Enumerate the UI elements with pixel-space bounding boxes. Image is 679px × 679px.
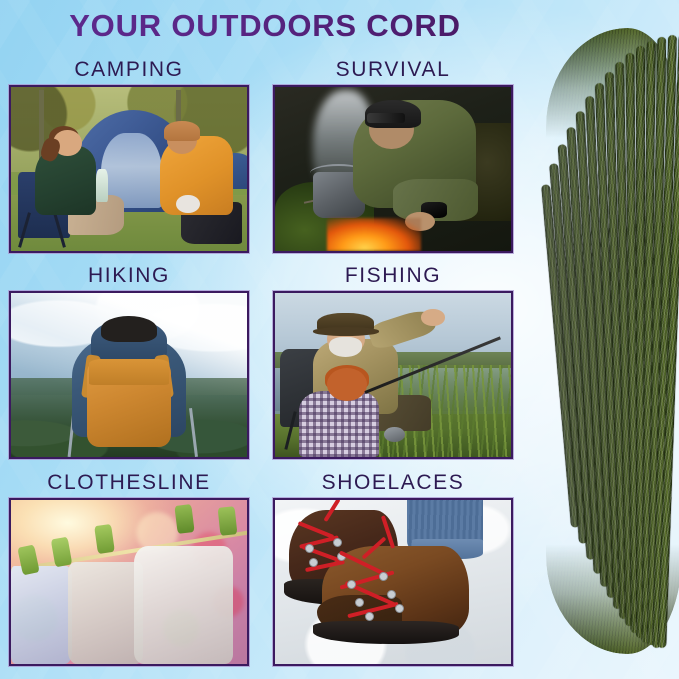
clothesline-photo <box>9 498 249 666</box>
clothespin-icon <box>175 504 195 534</box>
survival-photo <box>273 85 513 253</box>
use-case-fishing: FISHING <box>273 263 513 459</box>
use-case-label-camping: CAMPING <box>9 57 249 83</box>
use-case-hiking: HIKING <box>9 263 249 459</box>
hiking-photo <box>9 291 249 459</box>
camping-photo <box>9 85 249 253</box>
product-infographic: YOUR OUTDOORS CORD CAMPING <box>0 0 679 679</box>
paracord-product-image <box>530 0 679 679</box>
use-case-label-survival: SURVIVAL <box>273 57 513 83</box>
shoelaces-photo <box>273 498 513 666</box>
use-case-clothesline: CLOTHESLINE <box>9 470 249 666</box>
use-case-camping: CAMPING <box>9 57 249 253</box>
paracord-bundle <box>536 34 679 648</box>
clothespin-icon <box>217 506 236 535</box>
content-column: YOUR OUTDOORS CORD CAMPING <box>0 0 530 679</box>
use-case-survival: SURVIVAL <box>273 57 513 253</box>
use-case-label-shoelaces: SHOELACES <box>273 470 513 496</box>
use-case-shoelaces: SHOELACES <box>273 470 513 666</box>
use-case-label-fishing: FISHING <box>273 263 513 289</box>
use-case-label-clothesline: CLOTHESLINE <box>9 470 249 496</box>
fishing-photo <box>273 291 513 459</box>
page-title: YOUR OUTDOORS CORD <box>0 8 530 44</box>
use-case-label-hiking: HIKING <box>9 263 249 289</box>
